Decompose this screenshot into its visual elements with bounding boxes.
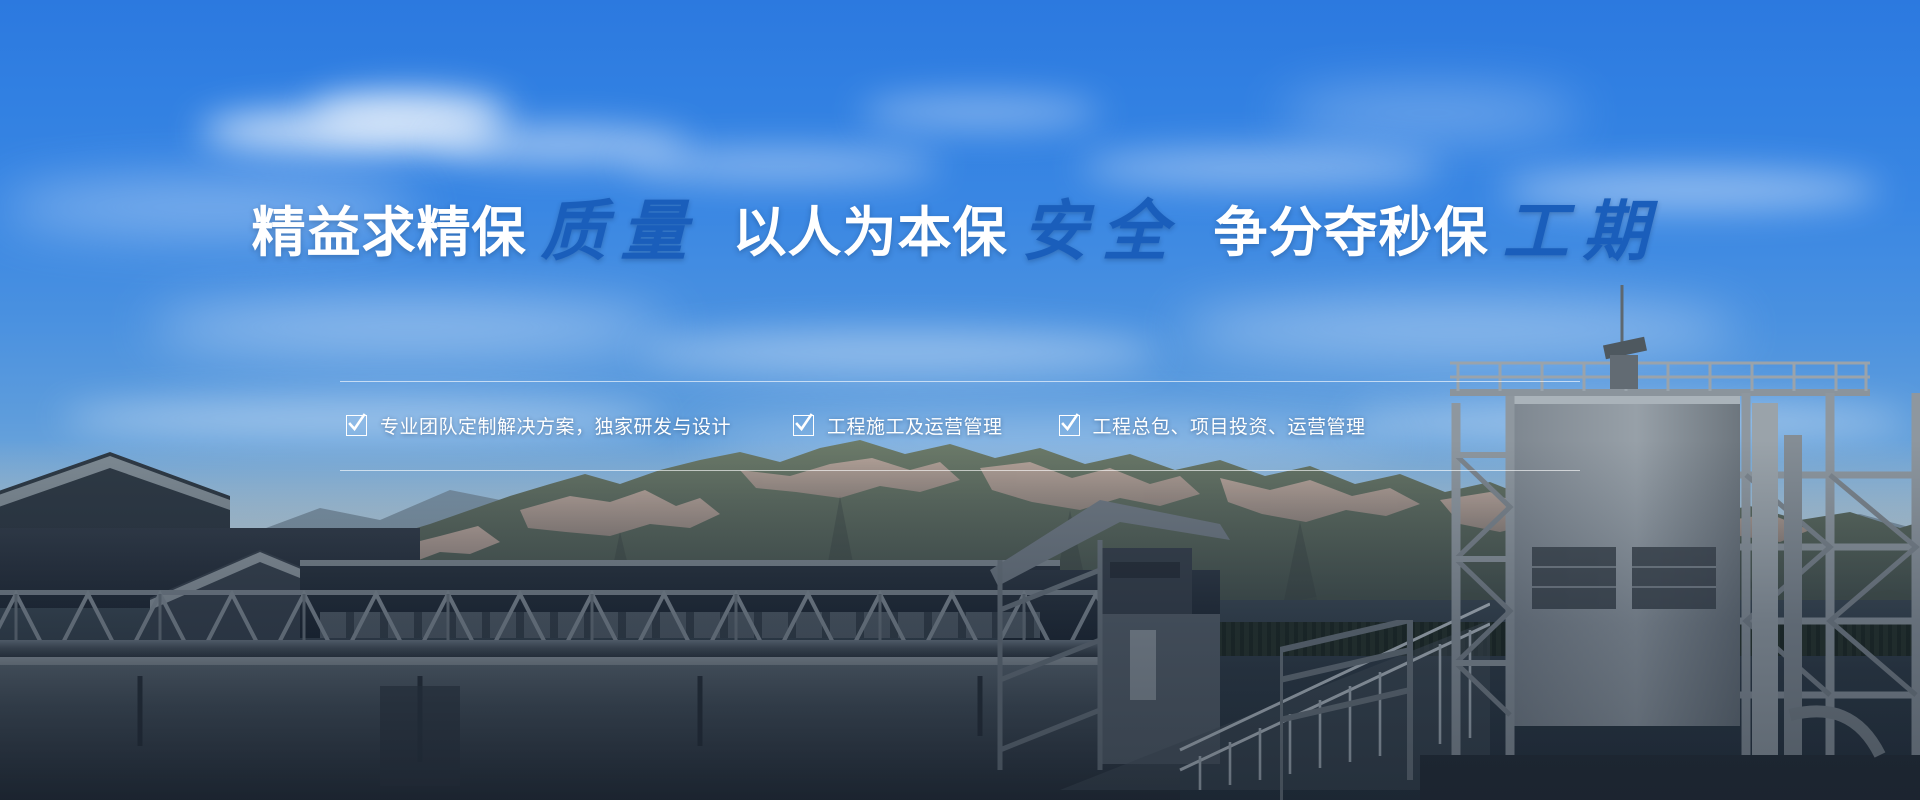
checkbox-checked-icon [346, 415, 367, 436]
checkbox-checked-icon [793, 415, 814, 436]
feature-label: 专业团队定制解决方案，独家研发与设计 [380, 412, 731, 439]
slogan-accent-schedule: 工期 [1503, 196, 1663, 269]
feature-item-construction[interactable]: 工程施工及运营管理 [793, 412, 1003, 439]
slogan-plain-1: 精益求精保 [252, 203, 527, 263]
feature-list: 专业团队定制解决方案，独家研发与设计 工程施工及运营管理 工程总包、项目投资、运… [340, 400, 1580, 450]
foreground-steel-frame [1280, 620, 1460, 800]
feature-item-epc[interactable]: 工程总包、项目投资、运营管理 [1059, 412, 1366, 439]
slogan-plain-2: 以人为本保 [733, 203, 1008, 263]
hero-banner: 精益求精保质量以人为本保安全争分夺秒保工期 专业团队定制解决方案，独家研发与设计 [0, 0, 1920, 800]
divider-top [340, 381, 1580, 382]
slogan-accent-safety: 安全 [1022, 196, 1182, 269]
checkbox-checked-icon [1059, 415, 1080, 436]
headline-slogan: 精益求精保质量以人为本保安全争分夺秒保工期 [0, 200, 1920, 266]
slogan-accent-quality: 质量 [541, 196, 701, 269]
feature-item-solutions[interactable]: 专业团队定制解决方案，独家研发与设计 [346, 412, 731, 439]
feature-label: 工程施工及运营管理 [827, 412, 1003, 439]
divider-bottom [340, 470, 1580, 471]
feature-label: 工程总包、项目投资、运营管理 [1093, 412, 1366, 439]
slogan-plain-3: 争分夺秒保 [1214, 203, 1489, 263]
banner-content: 精益求精保质量以人为本保安全争分夺秒保工期 专业团队定制解决方案，独家研发与设计 [0, 0, 1920, 500]
